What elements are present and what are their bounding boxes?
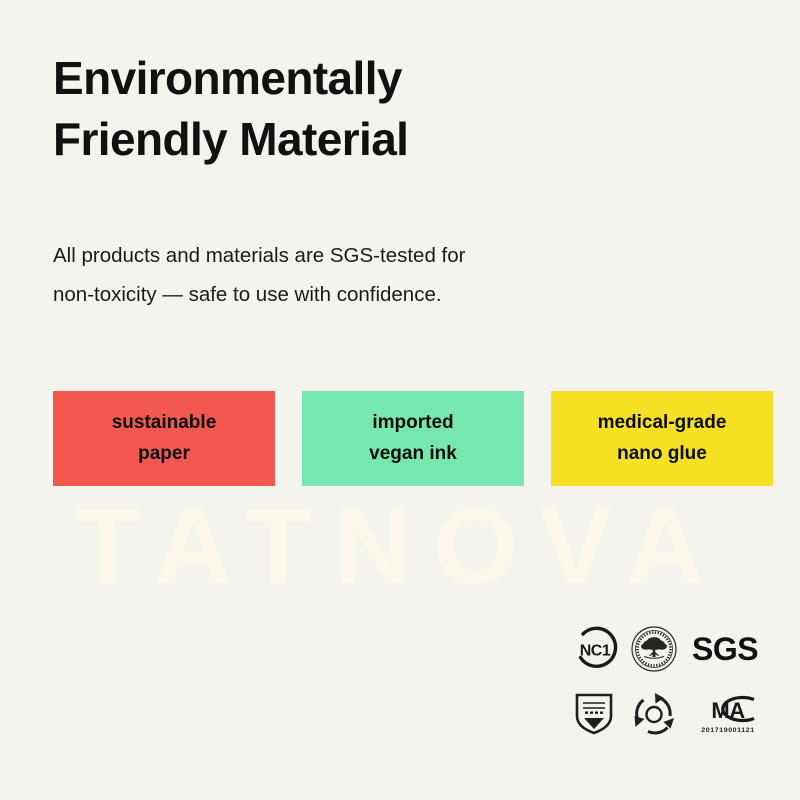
nc1-icon: NC1 xyxy=(572,626,618,672)
page-title-line-1: Environmentally xyxy=(53,48,693,109)
material-chip-nano-glue: medical-grade nano glue xyxy=(551,391,773,486)
material-chip-list: sustainable paper imported vegan ink med… xyxy=(53,391,773,486)
forest-seal-icon xyxy=(630,625,678,673)
sgs-icon: SGS xyxy=(690,629,764,669)
material-chip-label-line-1: sustainable xyxy=(112,408,217,439)
sgs-text: SGS xyxy=(692,631,758,667)
material-chip-label-line-1: medical-grade xyxy=(598,408,727,439)
brand-watermark: TATNOVA xyxy=(0,492,800,600)
cma-certificate-number: 201719001121 xyxy=(701,727,755,733)
page-title-line-2: Friendly Material xyxy=(53,109,693,170)
material-chip-label-line-2: nano glue xyxy=(617,439,707,470)
page-subtitle: All products and materials are SGS-teste… xyxy=(53,236,653,315)
certification-badges: NC1 xyxy=(572,620,780,744)
material-chip-sustainable-paper: sustainable paper xyxy=(53,391,275,486)
page-subtitle-line-2: non-toxicity — safe to use with confiden… xyxy=(53,275,653,314)
cma-badge: MA 201719001121 xyxy=(692,692,764,734)
poster-page: TATNOVA Environmentally Friendly Materia… xyxy=(0,0,800,800)
material-chip-vegan-ink: imported vegan ink xyxy=(302,391,524,486)
material-chip-label-line-1: imported xyxy=(372,408,453,439)
svg-text:NC1: NC1 xyxy=(580,643,611,660)
material-chip-label-line-2: paper xyxy=(138,439,190,470)
shield-icon xyxy=(572,689,616,737)
page-title: Environmentally Friendly Material xyxy=(53,48,693,169)
cma-text: MA xyxy=(711,698,745,723)
cma-icon: MA xyxy=(692,692,764,726)
material-chip-label-line-2: vegan ink xyxy=(369,439,457,470)
certification-row-top: NC1 xyxy=(572,620,780,678)
recycle-icon xyxy=(630,689,678,737)
page-subtitle-line-1: All products and materials are SGS-teste… xyxy=(53,236,653,275)
certification-row-bottom: MA 201719001121 xyxy=(572,682,780,744)
